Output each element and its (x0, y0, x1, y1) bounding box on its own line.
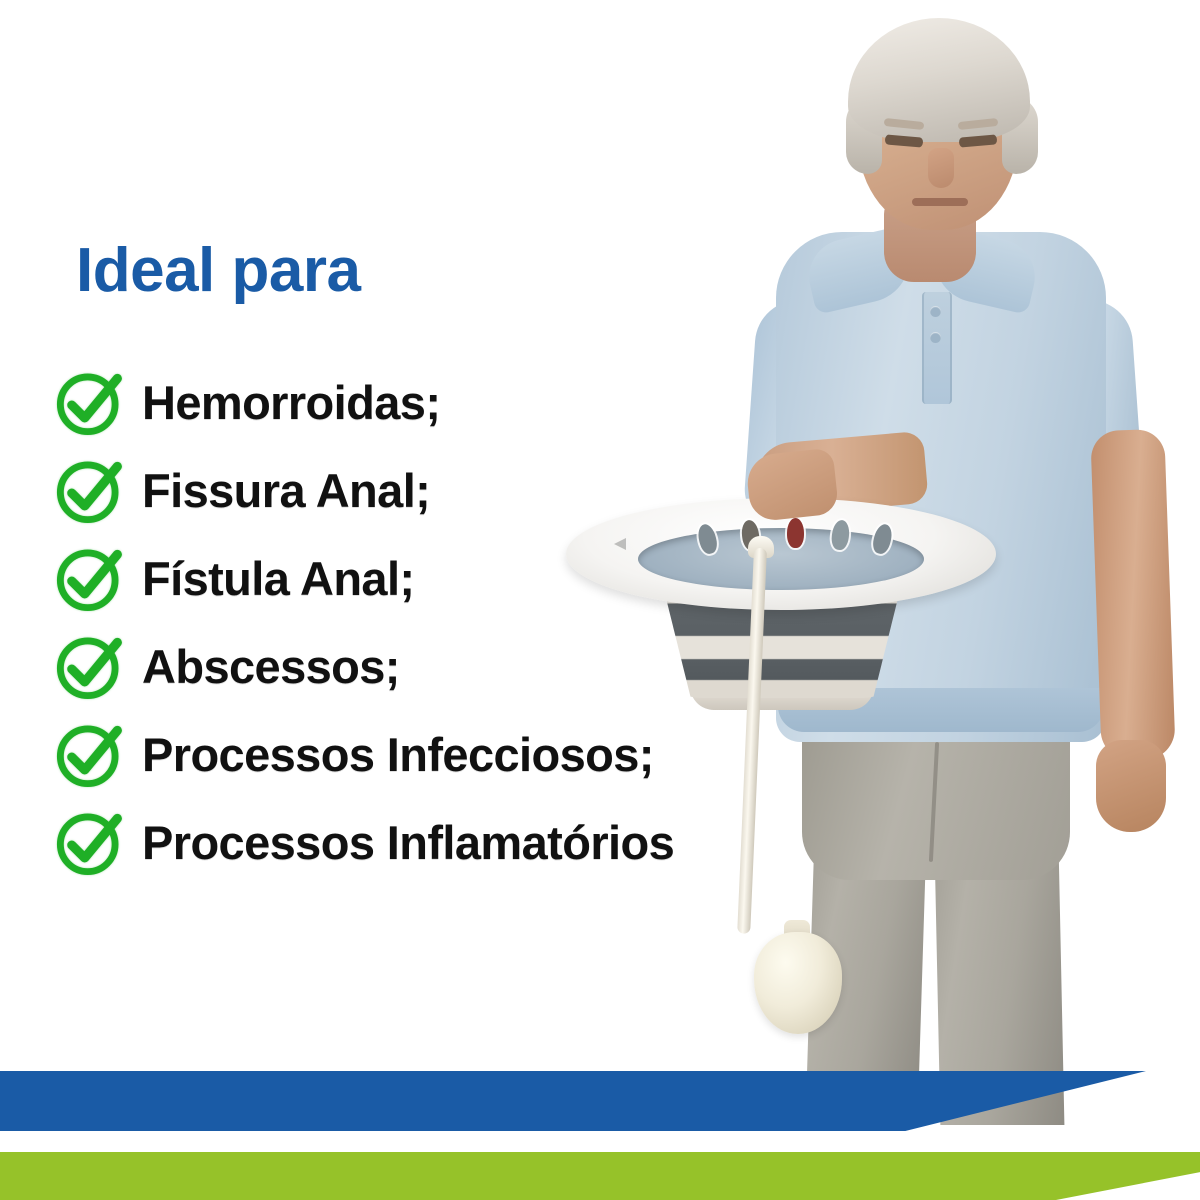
benefit-label: Processos Inflamatórios (142, 819, 674, 866)
green-check-circle-icon (52, 628, 128, 704)
benefit-label: Abscessos; (142, 643, 400, 690)
list-item: Fissura Anal; (52, 446, 812, 534)
benefits-list: Hemorroidas; Fissura Anal; Fístula Anal;… (52, 358, 812, 886)
green-check-circle-icon (52, 540, 128, 616)
list-item: Fístula Anal; (52, 534, 812, 622)
green-band (0, 1152, 1200, 1200)
nose (928, 148, 954, 188)
shirt-button-top (930, 306, 941, 317)
right-arm (1090, 429, 1175, 761)
right-hand (1096, 740, 1166, 832)
green-check-circle-icon (52, 364, 128, 440)
benefit-label: Processos Infecciosos; (142, 731, 654, 778)
green-check-circle-icon (52, 716, 128, 792)
benefit-label: Fissura Anal; (142, 467, 430, 514)
list-item: Processos Infecciosos; (52, 710, 812, 798)
green-check-circle-icon (52, 804, 128, 880)
benefit-label: Hemorroidas; (142, 379, 440, 426)
hair (848, 18, 1030, 142)
list-item: Abscessos; (52, 622, 812, 710)
green-check-circle-icon (52, 452, 128, 528)
shirt-button-bottom (930, 332, 941, 343)
page-title: Ideal para (76, 240, 360, 302)
poster-canvas: Ideal para Hemorroidas; Fissura Anal; Fí… (0, 0, 1200, 1200)
mouth (912, 198, 968, 206)
list-item: Hemorroidas; (52, 358, 812, 446)
benefit-label: Fístula Anal; (142, 555, 414, 602)
list-item: Processos Inflamatórios (52, 798, 812, 886)
